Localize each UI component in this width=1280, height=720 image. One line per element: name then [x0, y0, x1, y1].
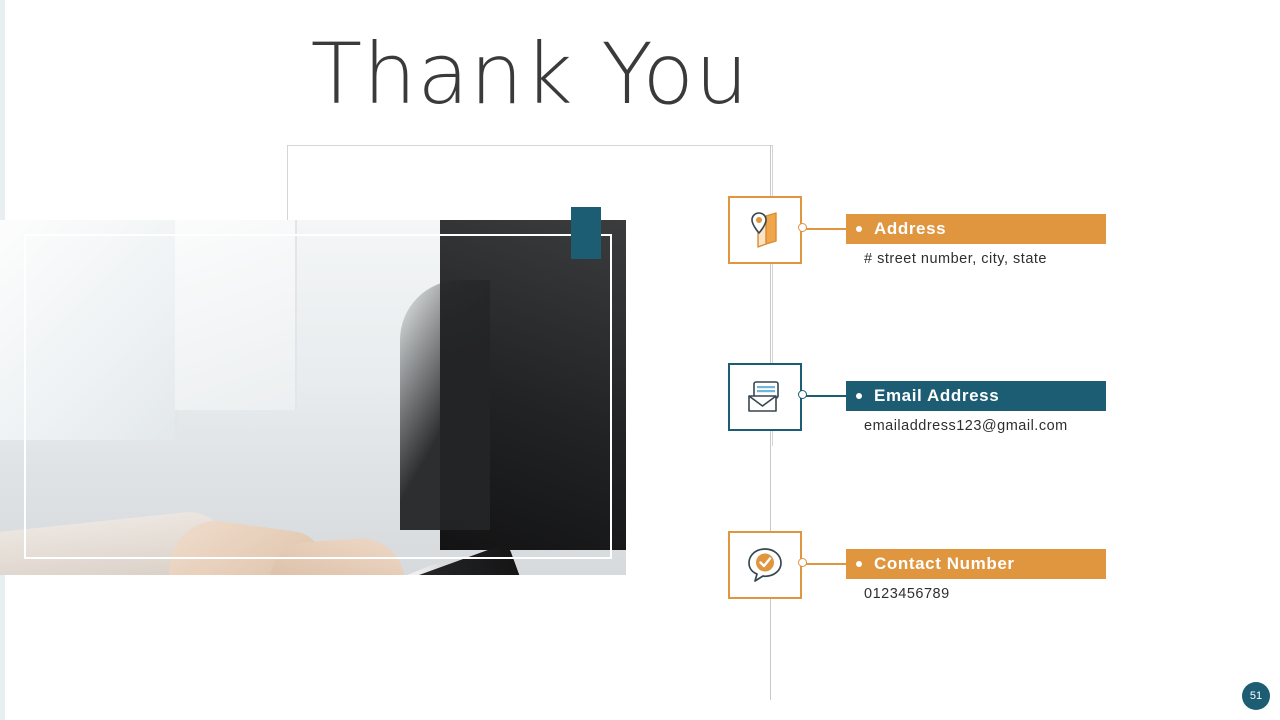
label-phone: Contact Number	[846, 549, 1106, 579]
connector-dot-phone	[798, 558, 807, 567]
chat-check-icon	[728, 531, 802, 599]
value-phone: 0123456789	[864, 586, 950, 602]
handshake-photo	[0, 220, 626, 575]
bullet-dot-email	[856, 393, 862, 399]
value-email: emailaddress123@gmail.com	[864, 418, 1068, 434]
map-location-icon	[728, 196, 802, 264]
bullet-dot-phone	[856, 561, 862, 567]
label-address: Address	[846, 214, 1106, 244]
photo-window-left	[0, 220, 177, 440]
label-email: Email Address	[846, 381, 1106, 411]
connector-line-email	[802, 395, 846, 397]
photo-suit-shoulder	[400, 280, 490, 530]
value-address: # street number, city, state	[864, 251, 1047, 267]
bullet-dot-address	[856, 226, 862, 232]
page-title: Thank You	[300, 32, 760, 116]
email-envelope-icon	[728, 363, 802, 431]
connector-dot-email	[798, 390, 807, 399]
teal-accent-tab	[571, 207, 601, 259]
connector-dot-address	[798, 223, 807, 232]
photo-window-mid	[175, 220, 297, 410]
connector-line-phone	[802, 563, 846, 565]
page-number-badge: 51	[1242, 682, 1270, 710]
connector-line-address	[802, 228, 846, 230]
